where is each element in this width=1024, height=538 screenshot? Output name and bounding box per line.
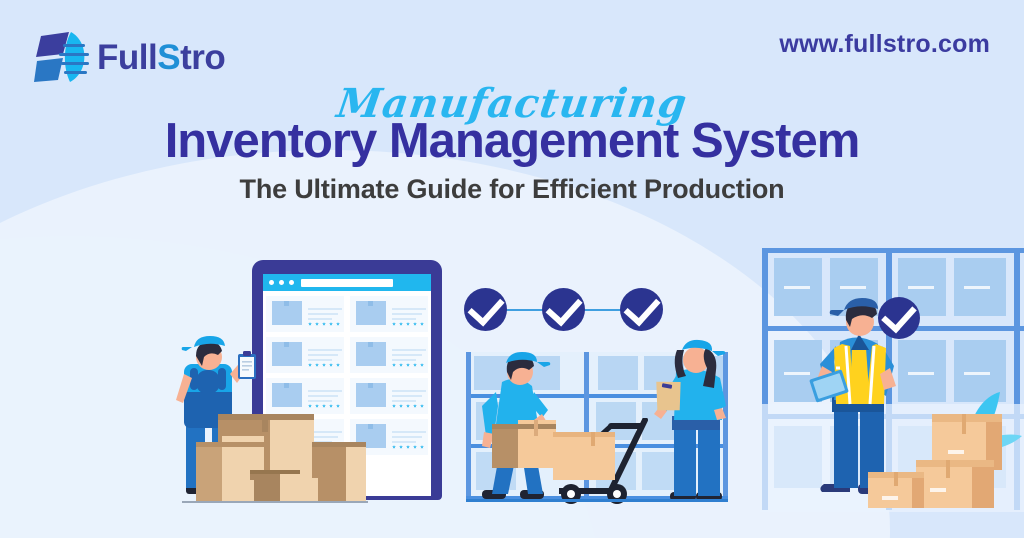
product-text-line (308, 313, 338, 315)
product-text-line (392, 318, 416, 320)
window-dot-maximize-icon (289, 280, 294, 285)
title-script-line: Manufacturing (0, 84, 1024, 124)
product-text-line (392, 436, 422, 438)
product-text-line (308, 349, 342, 351)
product-text-line (308, 390, 342, 392)
rating-star-icon (413, 404, 417, 408)
rating-star-icon (336, 322, 340, 326)
worker-clipboard-hand-truck (652, 336, 732, 506)
browser-bar (263, 274, 431, 291)
product-text-line (392, 349, 426, 351)
product-text-line (392, 400, 416, 402)
product-card[interactable] (266, 378, 344, 414)
hero-banner: FullStro www.fullstro.com Manufacturing … (0, 0, 1024, 538)
check-circle-icon[interactable] (464, 288, 507, 331)
product-text-line (392, 354, 422, 356)
rating-star-icon (392, 322, 396, 326)
cardboard-box-stack-left (196, 412, 366, 502)
rating-star-icon (420, 445, 424, 449)
product-text-line (308, 395, 338, 397)
product-thumbnail-box-icon (356, 383, 386, 407)
rating-star-icon (322, 322, 326, 326)
brand-wordmark: FullStro (97, 40, 225, 75)
logo-text-tro: tro (180, 38, 225, 77)
product-text-line (392, 441, 416, 443)
rating-star-icon (399, 322, 403, 326)
rating-star-icon (392, 363, 396, 367)
product-thumbnail-box-icon (272, 383, 302, 407)
page-subtitle: The Ultimate Guide for Efficient Product… (0, 174, 1024, 205)
logo-text-full: Full (97, 38, 157, 77)
logo-text-s: S (157, 38, 180, 77)
product-text-line (308, 359, 332, 361)
product-text-line (308, 308, 342, 310)
product-thumbnail-box-icon (272, 342, 302, 366)
rating-star-icon (406, 445, 410, 449)
product-thumbnail-box-icon (356, 342, 386, 366)
rating-star-icon (406, 322, 410, 326)
product-text-line (392, 395, 422, 397)
product-text-line (392, 313, 422, 315)
rating-star-icon (399, 363, 403, 367)
progress-checkmarks (460, 288, 670, 332)
product-text-line (392, 390, 426, 392)
rating-star-icon (308, 404, 312, 408)
rating-star-icon (392, 445, 396, 449)
title-block: Manufacturing Inventory Management Syste… (0, 84, 1024, 205)
rating-star-icon (329, 363, 333, 367)
rating-star-icon (308, 363, 312, 367)
floor-line-middle (466, 499, 728, 502)
rating-star-icon (322, 404, 326, 408)
rating-star-icon (336, 363, 340, 367)
rating-star-icon (399, 445, 403, 449)
product-card[interactable] (266, 337, 344, 373)
carton-on-hand-truck (553, 432, 615, 480)
brand-logo[interactable]: FullStro (33, 28, 225, 86)
rating-star-icon (329, 404, 333, 408)
product-text-line (392, 359, 416, 361)
check-circle-icon[interactable] (620, 288, 663, 331)
rating-star-icon (413, 363, 417, 367)
cardboard-box-stack-right (866, 414, 1002, 510)
rating-star-icon (329, 322, 333, 326)
window-dot-minimize-icon (279, 280, 284, 285)
floor-line-left (182, 501, 368, 503)
product-card[interactable] (350, 296, 428, 332)
product-card[interactable] (350, 378, 428, 414)
product-thumbnail-box-icon (356, 301, 386, 325)
product-text-line (308, 400, 332, 402)
rating-star-icon (315, 404, 319, 408)
check-circle-icon[interactable] (542, 288, 585, 331)
rating-star-icon (322, 363, 326, 367)
product-text-line (308, 318, 332, 320)
rating-star-icon (315, 363, 319, 367)
rating-star-icon (315, 322, 319, 326)
rating-star-icon (406, 404, 410, 408)
product-text-line (392, 308, 426, 310)
website-url[interactable]: www.fullstro.com (779, 30, 990, 59)
product-thumbnail-box-icon (272, 301, 302, 325)
rating-star-icon (392, 404, 396, 408)
rating-star-icon (413, 322, 417, 326)
rating-star-icon (420, 404, 424, 408)
window-dot-close-icon (269, 280, 274, 285)
rating-star-icon (308, 322, 312, 326)
address-bar[interactable] (301, 279, 393, 287)
rating-star-icon (399, 404, 403, 408)
rating-star-icon (420, 322, 424, 326)
product-card[interactable] (350, 337, 428, 373)
fullstro-cube-logo-icon (33, 28, 93, 86)
rating-star-icon (413, 445, 417, 449)
product-text-line (392, 431, 426, 433)
rating-star-icon (336, 404, 340, 408)
rating-star-icon (420, 363, 424, 367)
rating-star-icon (406, 363, 410, 367)
product-card[interactable] (266, 296, 344, 332)
product-text-line (308, 354, 338, 356)
